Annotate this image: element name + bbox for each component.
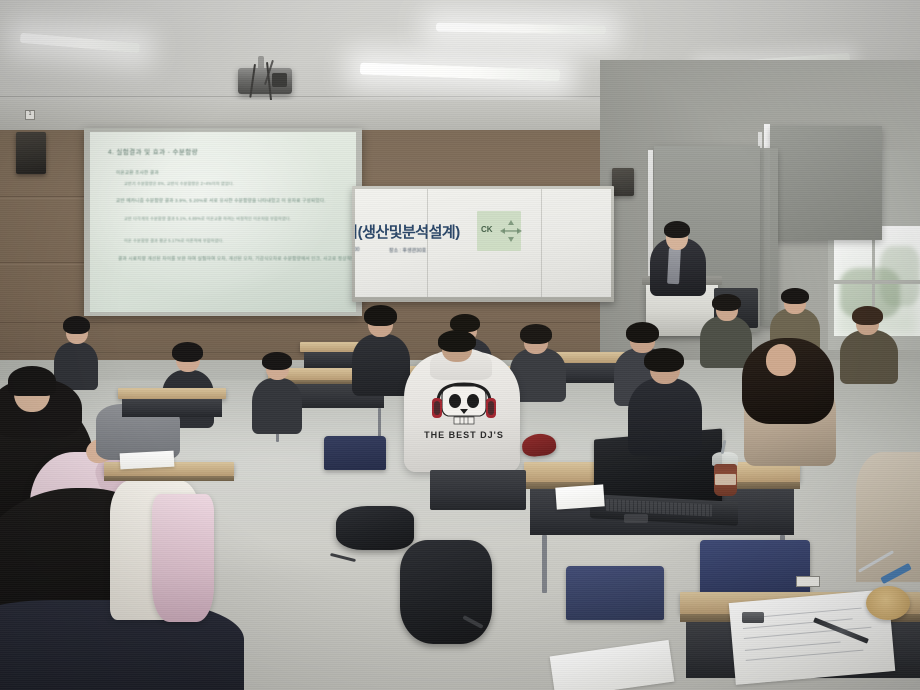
student-hair [852, 306, 883, 325]
wall-speaker [16, 132, 46, 174]
ck-logo-text: CK [481, 225, 493, 234]
student-hair [63, 316, 90, 334]
screen-glow [90, 132, 356, 312]
backpack [400, 540, 492, 644]
svg-text:THE BEST DJ'S: THE BEST DJ'S [424, 430, 504, 440]
desk-edge [104, 476, 234, 481]
student-body [700, 316, 752, 368]
paper-sheet [555, 484, 604, 509]
wall-tag: 1 [25, 110, 35, 120]
tape-roll [866, 586, 910, 620]
student-hair [364, 305, 397, 326]
wall-panel-line [0, 322, 690, 323]
eraser [742, 612, 764, 623]
window-blind [760, 148, 778, 326]
laptop-trackpad[interactable] [624, 514, 648, 523]
student-body [840, 330, 898, 384]
student-hair [262, 352, 292, 370]
whiteboard: 대회(생산및분석설계) 13:00 장소 : 후생관30호 CK [355, 189, 611, 297]
student-body [628, 378, 702, 456]
student-body [856, 452, 920, 582]
desk [118, 388, 226, 399]
projection-screen: 4. 실험결과 및 효과 - 수분함량 이온교환 조사한 결과 교반기 수분함량… [90, 132, 356, 312]
student-hair [172, 342, 203, 362]
slide-bullet: 이온 수분함량 결과 평균 5.17%로 이론적에 부합하였다. [124, 238, 224, 244]
ck-arrow-icon [497, 217, 525, 245]
student-hair [644, 348, 684, 372]
board-seam [541, 189, 542, 297]
student-body [352, 334, 410, 396]
slide-bullet: 결과 시료지향 개선된 차이를 보완 하여 실험하여 오차, 개선된 오차, 기… [118, 256, 356, 262]
window-blind [770, 126, 882, 240]
desk-leg [542, 535, 547, 593]
skull-headphones-graphic: THE BEST DJ'S [424, 382, 504, 444]
chair-back[interactable] [700, 540, 810, 598]
paper-line [745, 642, 841, 651]
slide-bullet: 교반 다각개의 수분함량 결과 5.1%, 6.89%로 이온교환 하려는 비정… [124, 216, 291, 222]
desk-label [796, 576, 820, 587]
window-mullion [834, 280, 920, 284]
hoodie-student-hair [438, 330, 476, 352]
presenter-scarf [667, 248, 681, 285]
student-hair [781, 288, 809, 304]
banner-location: 장소 : 후생관30호 [389, 247, 426, 254]
projector-lens [272, 73, 287, 87]
draped-pink-jacket [152, 494, 214, 622]
laptop-keyboard[interactable] [606, 499, 712, 517]
banner-title: 대회(생산및분석설계) [355, 221, 460, 242]
board-seam [427, 189, 428, 297]
wall-speaker [612, 168, 634, 196]
slide-bullet: 교반기 수분함량은 8%, 교반식 수분함량은 2~4%이하 였었다. [124, 181, 234, 187]
desk-panel [430, 470, 526, 510]
coffee-cup-sleeve [715, 474, 736, 485]
student-body [252, 378, 302, 434]
student-head [766, 344, 796, 376]
student-hair [626, 322, 659, 343]
slide-bullet: 이온교환 조사한 결과 [116, 170, 159, 176]
presenter-hair [664, 221, 690, 238]
classroom-photo: 1 4. 실험결과 및 효과 - 수분함량 이온교환 조사한 결과 교반기 수분… [0, 0, 920, 690]
chair-back[interactable] [566, 566, 664, 620]
window-greenery [880, 246, 920, 306]
desk-panel [122, 399, 222, 417]
student-hair [712, 294, 741, 311]
chair-back[interactable] [324, 436, 386, 470]
backpack [336, 506, 414, 550]
student-hair [520, 324, 552, 344]
open-book [120, 451, 175, 470]
banner-time: 13:00 [355, 247, 360, 253]
paper-line [746, 650, 864, 661]
slide-bullet: 교반 메카니즘 수분함량 결과 3.9%, 5.20%로 서로 유사한 수분함량… [116, 198, 326, 204]
student-hair [8, 366, 56, 396]
slide-title: 4. 실험결과 및 효과 - 수분함량 [108, 146, 198, 156]
